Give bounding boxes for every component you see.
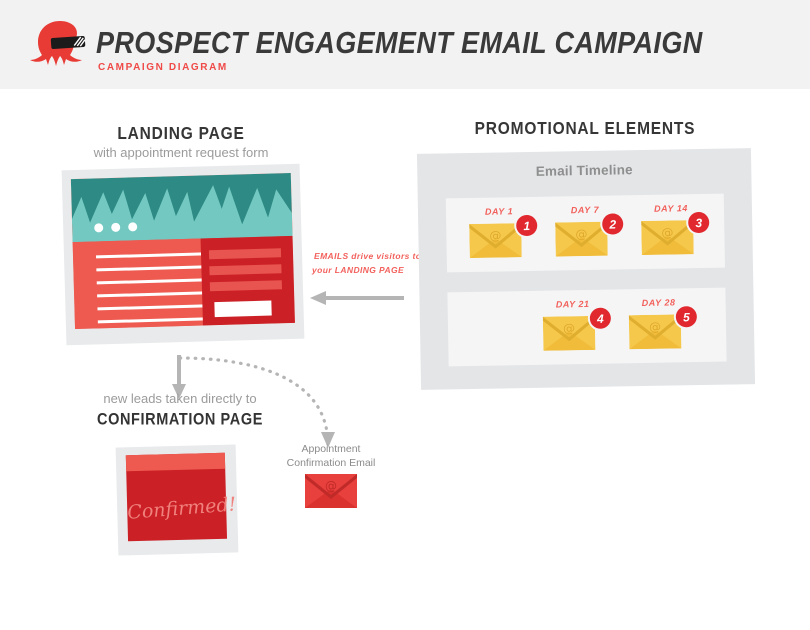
email-badge: 2 <box>602 213 623 234</box>
timeline-row: DAY 1 @ 1 DAY 7 @ 2 <box>446 194 725 273</box>
email-timeline-panel: Email Timeline DAY 1 @ 1 DAY 7 @ <box>417 148 755 390</box>
envelope-icon: @ <box>555 222 608 257</box>
landing-page-mockup <box>62 164 305 346</box>
confirmation-page-card: Confirmed! <box>116 444 239 555</box>
email-badge: 4 <box>590 308 611 329</box>
timeline-row: DAY 21 @ 4 DAY 28 @ 5 <box>447 288 726 367</box>
form-input-field[interactable] <box>208 248 280 259</box>
emails-drive-traffic-label-line2: your LANDING PAGE <box>312 265 404 275</box>
landing-page-content-area <box>73 239 203 330</box>
campaign-diagram-canvas: PROSPECT ENGAGEMENT EMAIL CAMPAIGN CAMPA… <box>0 0 810 630</box>
confirmation-envelope-icon: @ <box>305 474 357 508</box>
email-item[interactable]: DAY 7 @ 2 <box>542 195 629 270</box>
landing-page-screen <box>71 173 295 329</box>
promotional-section-title: PROMOTIONAL ELEMENTS <box>420 119 750 140</box>
confirmation-card-body: Confirmed! <box>126 453 227 542</box>
email-badge: 3 <box>688 212 709 233</box>
appointment-email-label-line2: Confirmation Email <box>255 457 407 469</box>
email-item[interactable]: DAY 21 @ 4 <box>529 289 616 364</box>
confirmation-caption-line2: CONFIRMATION PAGE <box>30 411 330 429</box>
appointment-request-form <box>200 236 295 326</box>
svg-text:@: @ <box>661 225 673 239</box>
email-timeline-label: Email Timeline <box>417 160 751 181</box>
email-item[interactable]: DAY 14 @ 3 <box>628 194 715 269</box>
landing-section-title: LANDING PAGE <box>0 124 362 145</box>
email-item[interactable]: DAY 1 @ 1 <box>456 197 543 272</box>
landing-section-subtitle: with appointment request form <box>0 145 362 160</box>
confirmation-caption-line1: new leads taken directly to <box>30 391 330 406</box>
envelope-icon: @ <box>641 220 694 255</box>
appointment-email-label-line1: Appointment <box>255 443 407 455</box>
page-title: PROSPECT ENGAGEMENT EMAIL CAMPAIGN <box>96 26 703 61</box>
envelope-icon: @ <box>629 314 682 349</box>
svg-text:@: @ <box>575 227 587 241</box>
form-input-field[interactable] <box>209 280 281 291</box>
email-badge: 5 <box>676 306 697 327</box>
svg-text:@: @ <box>325 479 337 493</box>
svg-text:@: @ <box>563 321 575 335</box>
envelope-icon: @ <box>469 223 522 258</box>
email-item[interactable]: DAY 28 @ 5 <box>615 288 702 363</box>
email-badge: 1 <box>516 215 537 236</box>
left-arrow-icon <box>306 288 406 308</box>
envelope-icon: @ <box>543 316 596 351</box>
svg-text:@: @ <box>649 320 661 334</box>
emails-drive-traffic-label-line1: EMAILS drive visitors to <box>314 251 421 261</box>
confirmed-label: Confirmed! <box>127 494 227 524</box>
form-input-field[interactable] <box>209 264 281 275</box>
confirmation-card-header-bar <box>126 453 225 472</box>
page-subtitle: CAMPAIGN DIAGRAM <box>98 62 228 73</box>
svg-text:@: @ <box>489 228 501 242</box>
browser-dots-icon <box>94 222 137 232</box>
octopus-sunglasses-logo <box>28 18 92 76</box>
form-submit-button[interactable] <box>214 301 272 318</box>
